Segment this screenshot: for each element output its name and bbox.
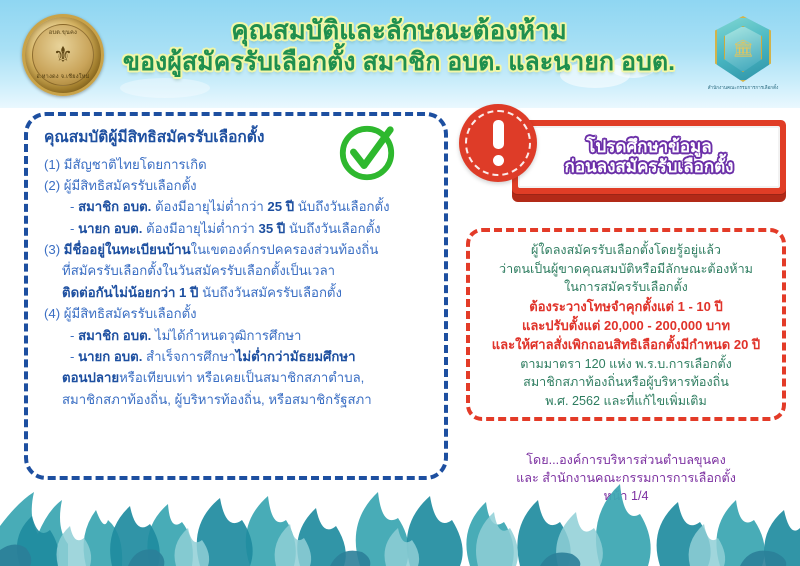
banner-line-2: ก่อนลงสมัครรับเลือกตั้ง (565, 158, 734, 177)
poster-title: คุณสมบัติและลักษณะต้องห้าม ของผู้สมัครรั… (104, 16, 694, 76)
qualification-item: (3) มีชื่ออยู่ในทะเบียนบ้านในเขตองค์กรปค… (44, 239, 428, 260)
qualifications-panel: คุณสมบัติผู้มีสิทธิสมัครรับเลือกตั้ง (1)… (24, 112, 448, 480)
penalty-line: สมาชิกสภาท้องถิ่นหรือผู้บริหารท้องถิ่น (478, 373, 774, 392)
ect-arc-text: สำนักงานคณะกรรมการการเลือกตั้ง (704, 85, 782, 92)
penalty-line: ผู้ใดลงสมัครรับเลือกตั้งโดยรู้อยู่แล้ว (478, 241, 774, 260)
exclamation-glyph (493, 120, 504, 166)
tropical-leaves-silhouette (0, 466, 800, 566)
qualification-item: - นายก อบต. สำเร็จการศึกษาไม่ต่ำกว่ามัธย… (44, 346, 428, 367)
exclamation-dot (493, 155, 504, 166)
penalty-line: พ.ศ. 2562 และที่แก้ไขเพิ่มเติม (478, 392, 774, 411)
exclamation-circle-icon (459, 104, 537, 182)
cloud-shape (120, 78, 210, 98)
qualification-item: - นายก อบต. ต้องมีอายุไม่ต่ำกว่า 35 ปี น… (44, 218, 428, 239)
penalty-line: ตามมาตรา 120 แห่ง พ.ร.บ.การเลือกตั้ง (478, 355, 774, 374)
penalty-line: และให้ศาลสั่งเพิกถอนสิทธิเลือกตั้งมีกำหน… (478, 335, 774, 354)
qualification-item: (4) ผู้มีสิทธิสมัครรับเลือกตั้ง (44, 303, 428, 324)
title-line-2: ของผู้สมัครรับเลือกตั้ง สมาชิก อบต. และน… (104, 48, 694, 76)
penalty-line: ในการสมัครรับเลือกตั้ง (478, 278, 774, 297)
study-info-banner: โปรดศึกษาข้อมูล ก่อนลงสมัครรับเลือกตั้ง (512, 120, 786, 194)
qualification-item: - สมาชิก อบต. ไม่ได้กำหนดวุฒิการศึกษา (44, 325, 428, 346)
seal-bottom-text: อ.หางดง จ.เชียงใหม่ (33, 73, 93, 81)
penalty-line: ต้องระวางโทษจำคุกตั้งแต่ 1 - 10 ปี (478, 297, 774, 316)
qualifications-list: (1) มีสัญชาติไทยโดยการเกิด(2) ผู้มีสิทธิ… (44, 154, 428, 411)
qualification-item: - สมาชิก อบต. ต้องมีอายุไม่ต่ำกว่า 25 ปี… (44, 196, 428, 217)
infographic-poster: อบต.ขุนคง ⚜ อ.หางดง จ.เชียงใหม่ 🏛 สำนักง… (0, 0, 800, 566)
ect-emblem-icon: 🏛 (724, 26, 762, 72)
exclamation-bar (493, 120, 504, 149)
abt-khun-khong-seal: อบต.ขุนคง ⚜ อ.หางดง จ.เชียงใหม่ (22, 14, 104, 96)
penalty-line: ว่าตนเป็นผู้ขาดคุณสมบัติหรือมีลักษณะต้อง… (478, 260, 774, 279)
ect-shield-shape: 🏛 (715, 16, 771, 82)
qualification-item: ติดต่อกันไม่น้อยกว่า 1 ปี นับถึงวันสมัคร… (44, 282, 428, 303)
qualification-item: ตอนปลายหรือเทียบเท่า หรือเคยเป็นสมาชิกสภ… (44, 367, 428, 388)
banner-line-1: โปรดศึกษาข้อมูล (586, 138, 711, 157)
qualification-item: สมาชิกสภาท้องถิ่น, ผู้บริหารท้องถิ่น, หร… (44, 389, 428, 410)
seal-emblem-icon: ⚜ (53, 44, 73, 66)
seal-inner-ring: อบต.ขุนคง ⚜ อ.หางดง จ.เชียงใหม่ (32, 24, 94, 86)
banner-inner-panel: โปรดศึกษาข้อมูล ก่อนลงสมัครรับเลือกตั้ง (518, 126, 780, 188)
seal-top-text: อบต.ขุนคง (33, 29, 93, 37)
penalty-notice-lines: ผู้ใดลงสมัครรับเลือกตั้งโดยรู้อยู่แล้วว่… (478, 241, 774, 410)
ect-thailand-logo: 🏛 สำนักงานคณะกรรมการการเลือกตั้ง (704, 10, 782, 96)
penalty-line: และปรับตั้งแต่ 20,000 - 200,000 บาท (478, 316, 774, 335)
green-check-circle-icon (336, 122, 398, 184)
qualification-item: ที่สมัครรับเลือกตั้งในวันสมัครรับเลือกตั… (44, 260, 428, 281)
penalty-notice-box: ผู้ใดลงสมัครรับเลือกตั้งโดยรู้อยู่แล้วว่… (466, 228, 786, 421)
title-line-1: คุณสมบัติและลักษณะต้องห้าม (104, 16, 694, 45)
